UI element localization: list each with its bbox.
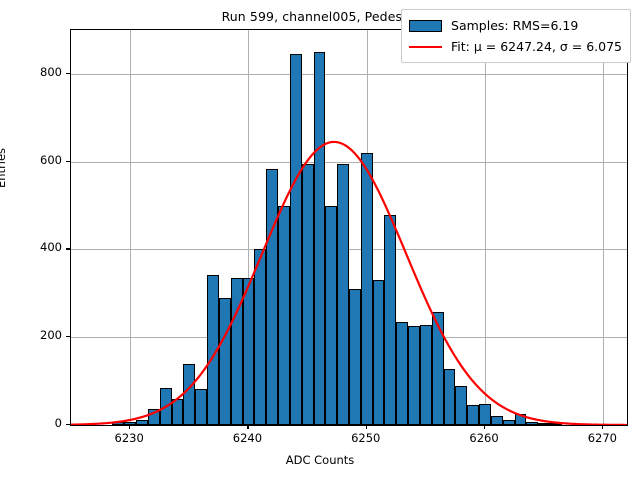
- histogram-bar: [266, 169, 278, 425]
- legend-label-samples: Samples: RMS=6.19: [451, 18, 578, 33]
- x-tick-label: 6270: [572, 431, 632, 445]
- histogram-bar: [290, 54, 302, 425]
- x-tick-mark: [129, 425, 130, 429]
- histogram-bar: [373, 280, 385, 425]
- y-tick-label: 600: [18, 153, 62, 167]
- gridline-vertical: [485, 30, 486, 425]
- histogram-bar: [278, 206, 290, 425]
- legend-line-icon: [409, 46, 442, 48]
- histogram-bar: [361, 153, 373, 425]
- histogram-bar: [207, 275, 219, 425]
- x-tick-label: 6230: [99, 431, 159, 445]
- histogram-bar: [337, 164, 349, 425]
- gridline-horizontal: [71, 249, 627, 250]
- x-axis-label: ADC Counts: [0, 453, 640, 467]
- y-tick-mark: [66, 248, 70, 249]
- x-tick-label: 6250: [336, 431, 396, 445]
- histogram-bar: [243, 278, 255, 425]
- y-tick-label: 800: [18, 65, 62, 79]
- histogram-bar: [172, 399, 184, 425]
- histogram-bar: [384, 215, 396, 425]
- histogram-bar: [503, 420, 515, 425]
- histogram-bar: [302, 164, 314, 425]
- gridline-vertical: [130, 30, 131, 425]
- histogram-bar: [550, 423, 562, 425]
- histogram-bar: [148, 409, 160, 425]
- histogram-bar: [325, 206, 337, 425]
- y-tick-mark: [66, 73, 70, 74]
- y-tick-mark: [66, 336, 70, 337]
- gridline-horizontal: [71, 162, 627, 163]
- figure-canvas: Run 599, channel005, Pedestal Entries 02…: [0, 0, 640, 480]
- histogram-bar: [467, 405, 479, 425]
- histogram-bar: [515, 414, 527, 425]
- histogram-bar: [479, 404, 491, 425]
- histogram-bar: [349, 289, 361, 425]
- legend-item-samples: Samples: RMS=6.19: [409, 15, 622, 36]
- legend-item-fit: Fit: μ = 6247.24, σ = 6.075: [409, 36, 622, 57]
- legend-patch-icon: [409, 20, 442, 32]
- histogram-bar: [160, 388, 172, 425]
- plot-area: [70, 29, 628, 426]
- x-tick-mark: [484, 425, 485, 429]
- gridline-vertical: [603, 30, 604, 425]
- legend: Samples: RMS=6.19 Fit: μ = 6247.24, σ = …: [401, 9, 631, 63]
- y-tick-label: 200: [18, 328, 62, 342]
- histogram-bar: [408, 326, 420, 425]
- histogram-bar: [231, 278, 243, 425]
- x-tick-mark: [602, 425, 603, 429]
- histogram-bar: [455, 386, 467, 425]
- x-tick-mark: [366, 425, 367, 429]
- histogram-bar: [112, 422, 124, 426]
- histogram-bar: [444, 369, 456, 425]
- histogram-bar: [136, 420, 148, 425]
- y-tick-mark: [66, 424, 70, 425]
- y-tick-label: 0: [18, 416, 62, 430]
- histogram-bar: [314, 52, 326, 425]
- x-tick-label: 6260: [454, 431, 514, 445]
- legend-label-fit: Fit: μ = 6247.24, σ = 6.075: [451, 39, 622, 54]
- histogram-bar: [183, 364, 195, 425]
- histogram-bar: [396, 322, 408, 425]
- x-tick-mark: [247, 425, 248, 429]
- y-tick-label: 400: [18, 240, 62, 254]
- x-tick-label: 6240: [217, 431, 277, 445]
- histogram-bar: [538, 423, 550, 425]
- y-tick-mark: [66, 161, 70, 162]
- histogram-bar: [420, 325, 432, 425]
- y-axis-label: Entries: [0, 148, 8, 188]
- histogram-bar: [526, 422, 538, 425]
- histogram-bar: [219, 298, 231, 425]
- gridline-horizontal: [71, 74, 627, 75]
- histogram-bar: [195, 389, 207, 425]
- histogram-bar: [491, 416, 503, 425]
- histogram-bar: [432, 312, 444, 425]
- histogram-bar: [254, 249, 266, 425]
